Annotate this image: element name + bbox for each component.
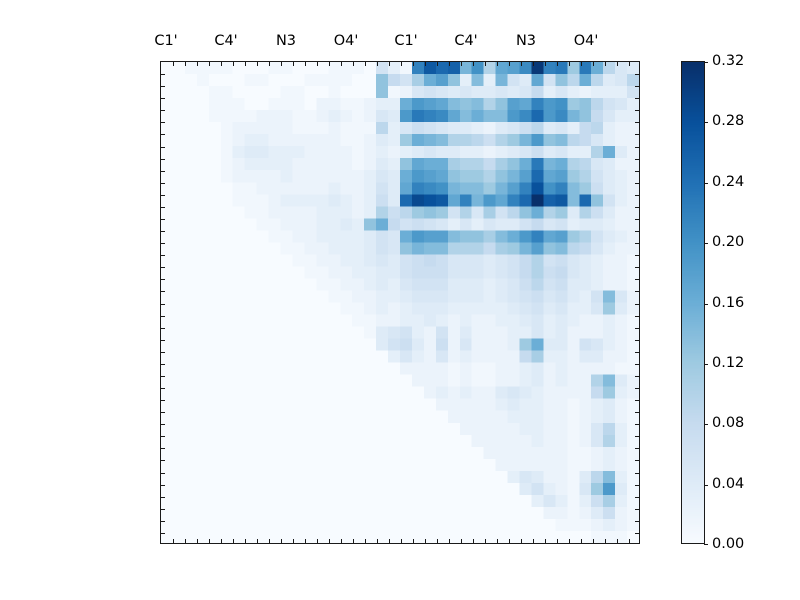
tick-mark [635,521,639,522]
tick-mark [635,424,639,425]
tick-mark [245,539,246,543]
tick-mark [635,448,639,449]
colorbar-tick-label: 0.04 [712,476,744,492]
tick-mark [581,62,582,66]
tick-mark [533,539,534,543]
colorbar-tick-mark [704,544,708,545]
tick-mark [161,267,165,268]
tick-mark [185,539,186,543]
tick-mark [635,207,639,208]
tick-mark [635,86,639,87]
colorbar-gradient [682,62,704,543]
tick-mark [161,195,165,196]
tick-mark [161,255,165,256]
tick-mark [437,539,438,543]
colorbar-tick-label: 0.20 [712,234,744,250]
tick-mark [161,279,165,280]
tick-mark [389,539,390,543]
tick-mark [365,539,366,543]
tick-mark [293,62,294,66]
tick-mark [161,231,165,232]
tick-mark [413,62,414,66]
heatmap-axes[interactable] [160,61,640,544]
tick-mark [635,183,639,184]
tick-mark [485,539,486,543]
colorbar-tick-mark [704,183,708,184]
tick-mark [635,255,639,256]
tick-mark [161,159,165,160]
tick-mark [317,62,318,66]
tick-mark [521,539,522,543]
tick-mark [161,122,165,123]
tick-mark [635,147,639,148]
tick-mark [161,485,165,486]
tick-mark [173,62,174,66]
tick-mark [635,328,639,329]
colorbar-tick-mark [704,243,708,244]
tick-mark [461,62,462,66]
tick-mark [635,267,639,268]
figure-canvas: C1'C4'N3O4'C1'C4'N3O4' C1'C4'N3O4'C1'C4'… [0,0,800,600]
tick-mark [635,110,639,111]
tick-mark [161,134,165,135]
tick-mark [185,62,186,66]
tick-mark [635,74,639,75]
tick-mark [635,219,639,220]
tick-mark [593,539,594,543]
tick-mark [161,533,165,534]
tick-mark [635,485,639,486]
tick-mark [413,539,414,543]
tick-mark [353,62,354,66]
tick-mark [161,304,165,305]
tick-mark [425,62,426,66]
tick-mark [389,62,390,66]
tick-mark [521,62,522,66]
tick-mark [635,316,639,317]
tick-mark [509,539,510,543]
tick-mark [497,62,498,66]
tick-mark [449,539,450,543]
tick-mark [161,98,165,99]
tick-mark [635,304,639,305]
colorbar-tick-mark [704,485,708,486]
tick-mark [593,62,594,66]
tick-mark [161,207,165,208]
tick-mark [377,539,378,543]
tick-mark [281,539,282,543]
colorbar-tick-label: 0.00 [712,536,744,552]
tick-mark [437,62,438,66]
tick-mark [635,436,639,437]
colorbar-tick-label: 0.12 [712,355,744,371]
tick-mark [329,539,330,543]
tick-mark [161,388,165,389]
tick-mark [635,98,639,99]
tick-mark [197,539,198,543]
tick-mark [635,159,639,160]
tick-mark [557,62,558,66]
tick-mark [245,62,246,66]
tick-mark [635,400,639,401]
tick-mark [257,539,258,543]
tick-mark [401,62,402,66]
tick-mark [161,171,165,172]
tick-mark [341,62,342,66]
tick-mark [269,539,270,543]
tick-mark [161,219,165,220]
tick-mark [569,539,570,543]
tick-mark [161,147,165,148]
heatmap-image[interactable] [161,62,639,543]
tick-mark [161,183,165,184]
tick-mark [635,497,639,498]
tick-mark [629,539,630,543]
tick-mark [533,62,534,66]
tick-mark [161,509,165,510]
tick-mark [365,62,366,66]
tick-mark [161,74,165,75]
tick-mark [569,62,570,66]
tick-mark [161,424,165,425]
tick-mark [161,473,165,474]
tick-mark [161,243,165,244]
tick-mark [635,243,639,244]
tick-mark [209,539,210,543]
tick-mark [281,62,282,66]
tick-mark [485,62,486,66]
colorbar-tick-label: 0.24 [712,174,744,190]
tick-mark [635,412,639,413]
tick-mark [509,62,510,66]
tick-mark [497,539,498,543]
tick-mark [161,497,165,498]
tick-mark [449,62,450,66]
tick-mark [221,62,222,66]
colorbar-tick-label: 0.08 [712,415,744,431]
tick-mark [605,62,606,66]
tick-mark [545,539,546,543]
colorbar-tick-mark [704,424,708,425]
tick-mark [305,539,306,543]
tick-mark [161,364,165,365]
colorbar-tick-mark [704,304,708,305]
tick-mark [209,62,210,66]
tick-mark [173,539,174,543]
tick-mark [425,539,426,543]
colorbar-tick-label: 0.32 [712,53,744,69]
tick-mark [635,388,639,389]
colorbar-tick-mark [704,122,708,123]
tick-mark [233,62,234,66]
tick-mark [353,539,354,543]
tick-mark [293,539,294,543]
tick-mark [161,448,165,449]
tick-mark [161,110,165,111]
tick-mark [197,62,198,66]
tick-mark [341,539,342,543]
colorbar-tick-label: 0.28 [712,113,744,129]
tick-mark [635,473,639,474]
tick-mark [635,509,639,510]
tick-mark [635,340,639,341]
tick-mark [473,62,474,66]
tick-mark [317,539,318,543]
tick-mark [629,62,630,66]
tick-mark [161,291,165,292]
tick-mark [221,539,222,543]
tick-mark [635,291,639,292]
tick-mark [581,539,582,543]
tick-mark [635,376,639,377]
tick-mark [161,86,165,87]
tick-mark [635,364,639,365]
tick-mark [329,62,330,66]
tick-mark [635,279,639,280]
colorbar[interactable] [681,61,705,544]
tick-mark [401,539,402,543]
tick-mark [545,62,546,66]
colorbar-tick-mark [704,364,708,365]
tick-mark [635,195,639,196]
colorbar-tick-label: 0.16 [712,295,744,311]
tick-mark [161,352,165,353]
tick-mark [635,122,639,123]
tick-mark [605,539,606,543]
tick-mark [161,412,165,413]
tick-mark [161,400,165,401]
tick-mark [461,539,462,543]
colorbar-tick-mark [704,62,708,63]
tick-mark [257,62,258,66]
tick-mark [473,539,474,543]
tick-mark [617,62,618,66]
tick-mark [557,539,558,543]
tick-mark [635,460,639,461]
tick-mark [269,62,270,66]
tick-mark [233,539,234,543]
tick-mark [161,316,165,317]
tick-mark [635,352,639,353]
tick-mark [617,539,618,543]
tick-mark [635,171,639,172]
tick-mark [377,62,378,66]
tick-mark [161,328,165,329]
tick-mark [161,376,165,377]
tick-mark [161,521,165,522]
tick-mark [305,62,306,66]
tick-mark [635,231,639,232]
tick-mark [161,460,165,461]
tick-mark [161,340,165,341]
tick-mark [635,134,639,135]
tick-mark [161,436,165,437]
tick-mark [635,533,639,534]
